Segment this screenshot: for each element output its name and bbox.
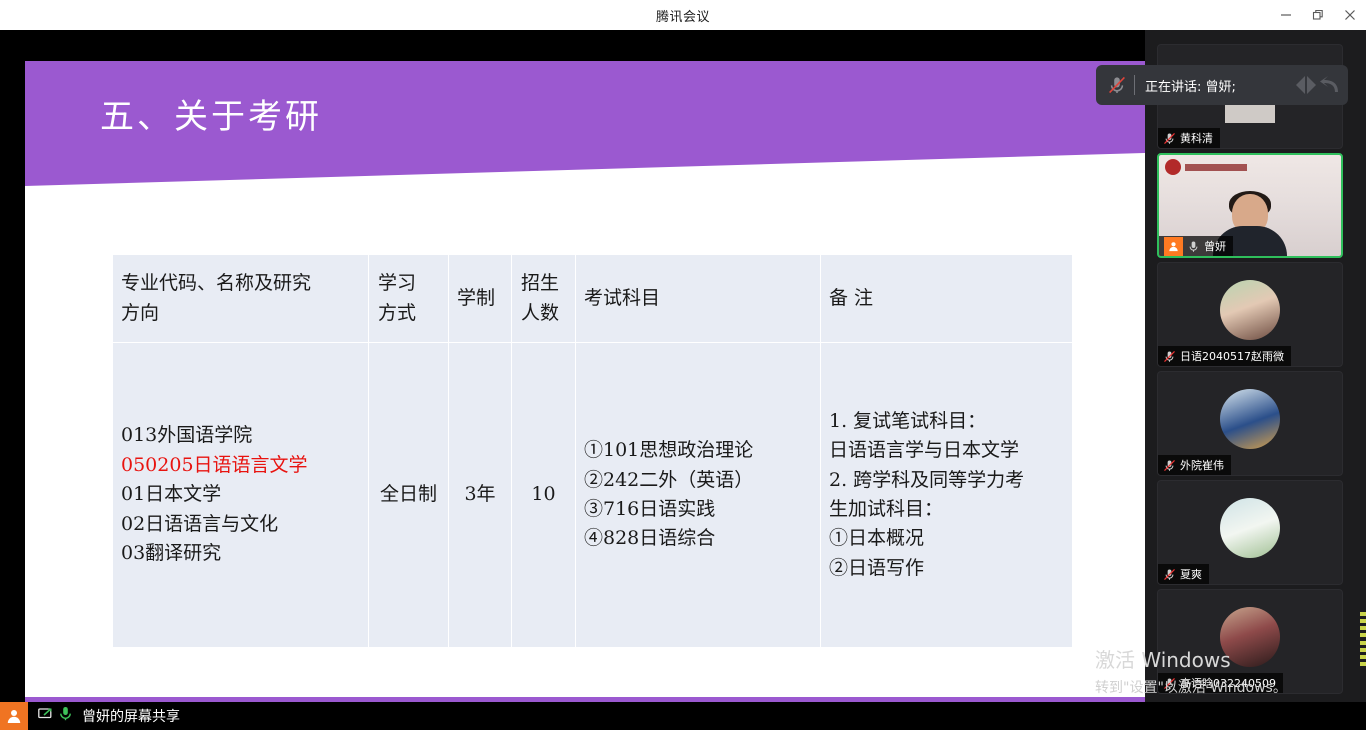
microphone-icon bbox=[59, 706, 72, 726]
participant-name-badge: 黄科清 bbox=[1158, 128, 1220, 148]
mic-muted-icon bbox=[1163, 459, 1176, 472]
audio-level-meter bbox=[1360, 612, 1366, 666]
window-title: 腾讯会议 bbox=[656, 6, 710, 25]
cell-program-length: 3年 bbox=[449, 343, 512, 648]
cell-exam-subjects: ①101思想政治理论 ②242二外（英语） ③716日语实践 ④828日语综合 bbox=[576, 343, 821, 648]
header-exam-subjects: 考试科目 bbox=[576, 255, 821, 343]
taskbar-app-entry[interactable]: 曾妍的屏幕共享 bbox=[0, 702, 180, 730]
participant-video-rail[interactable]: 黄科清 曾妍 bbox=[1145, 30, 1366, 702]
cell-quota: 10 bbox=[512, 343, 576, 648]
tencent-meeting-window: 腾讯会议 五、关于考研 bbox=[0, 0, 1366, 730]
taskbar-label: 曾妍的屏幕共享 bbox=[82, 706, 180, 726]
participant-tile[interactable]: 外院崔伟 bbox=[1157, 371, 1343, 476]
participant-name: 高语晗032240509 bbox=[1180, 675, 1276, 691]
participant-name-badge: 日语2040517赵雨微 bbox=[1158, 346, 1291, 366]
participant-name-badge: 外院崔伟 bbox=[1158, 455, 1231, 475]
mic-muted-icon bbox=[1104, 72, 1130, 98]
pill-divider bbox=[1134, 75, 1135, 95]
participant-name: 夏爽 bbox=[1180, 566, 1202, 582]
header-major: 专业代码、名称及研究 方向 bbox=[113, 255, 369, 343]
participant-tile[interactable]: 高语晗032240509 bbox=[1157, 589, 1343, 694]
minimize-button[interactable] bbox=[1270, 0, 1302, 30]
speaking-label: 正在讲话: 曾妍; bbox=[1145, 76, 1236, 95]
mic-muted-icon bbox=[1163, 568, 1176, 581]
user-icon bbox=[0, 702, 28, 730]
shared-screen-region[interactable]: 五、关于考研 专业代码、名称及研究 方向 学习 方式 学制 招生 bbox=[0, 30, 1145, 702]
host-icon bbox=[1164, 237, 1183, 256]
participant-name-badge: 曾妍 bbox=[1159, 236, 1233, 256]
cell-major: 013外国语学院 050205日语语言文学 01日本文学 02日语语言与文化 0… bbox=[113, 343, 369, 648]
table-row: 013外国语学院 050205日语语言文学 01日本文学 02日语语言与文化 0… bbox=[113, 343, 1073, 648]
header-study-mode: 学习 方式 bbox=[369, 255, 449, 343]
program-table: 专业代码、名称及研究 方向 学习 方式 学制 招生 人数 bbox=[112, 254, 1073, 648]
avatar bbox=[1220, 389, 1280, 449]
close-button[interactable] bbox=[1334, 0, 1366, 30]
header-remarks: 备 注 bbox=[821, 255, 1073, 343]
participant-tile[interactable]: 夏爽 bbox=[1157, 480, 1343, 585]
participant-name: 日语2040517赵雨微 bbox=[1180, 348, 1284, 364]
header-program-length: 学制 bbox=[449, 255, 512, 343]
mic-muted-icon bbox=[1163, 677, 1176, 690]
participant-name-badge: 高语晗032240509 bbox=[1158, 673, 1283, 693]
cell-study-mode: 全日制 bbox=[369, 343, 449, 648]
participant-tile-active-speaker[interactable]: 曾妍 bbox=[1157, 153, 1343, 258]
participant-name: 曾妍 bbox=[1204, 238, 1226, 254]
restore-button[interactable] bbox=[1302, 0, 1334, 30]
table-header-row: 专业代码、名称及研究 方向 学习 方式 学制 招生 人数 bbox=[113, 255, 1073, 343]
avatar bbox=[1220, 498, 1280, 558]
avatar bbox=[1220, 607, 1280, 667]
window-titlebar: 腾讯会议 bbox=[0, 0, 1366, 30]
participant-tile[interactable]: 日语2040517赵雨微 bbox=[1157, 262, 1343, 367]
windows-taskbar[interactable]: 曾妍的屏幕共享 bbox=[0, 702, 1366, 730]
window-controls bbox=[1270, 0, 1366, 30]
avatar bbox=[1220, 280, 1280, 340]
presentation-slide[interactable]: 五、关于考研 专业代码、名称及研究 方向 学习 方式 学制 招生 bbox=[25, 61, 1145, 711]
speaking-indicator-bar[interactable]: 正在讲话: 曾妍; bbox=[1096, 65, 1348, 105]
mic-on-icon bbox=[1187, 240, 1200, 253]
slide-title: 五、关于考研 bbox=[100, 89, 322, 138]
share-screen-icon bbox=[38, 707, 54, 726]
university-logo bbox=[1165, 159, 1247, 175]
collapse-arrows-icon[interactable] bbox=[1294, 74, 1340, 96]
cell-remarks: 1. 复试笔试科目： 日语语言学与日本文学 2. 跨学科及同等学力考 生加试科目… bbox=[821, 343, 1073, 648]
participant-name: 黄科清 bbox=[1180, 130, 1213, 146]
mic-muted-icon bbox=[1163, 350, 1176, 363]
mic-muted-icon bbox=[1163, 132, 1176, 145]
participant-name-badge: 夏爽 bbox=[1158, 564, 1209, 584]
header-quota: 招生 人数 bbox=[512, 255, 576, 343]
participant-name: 外院崔伟 bbox=[1180, 457, 1224, 473]
